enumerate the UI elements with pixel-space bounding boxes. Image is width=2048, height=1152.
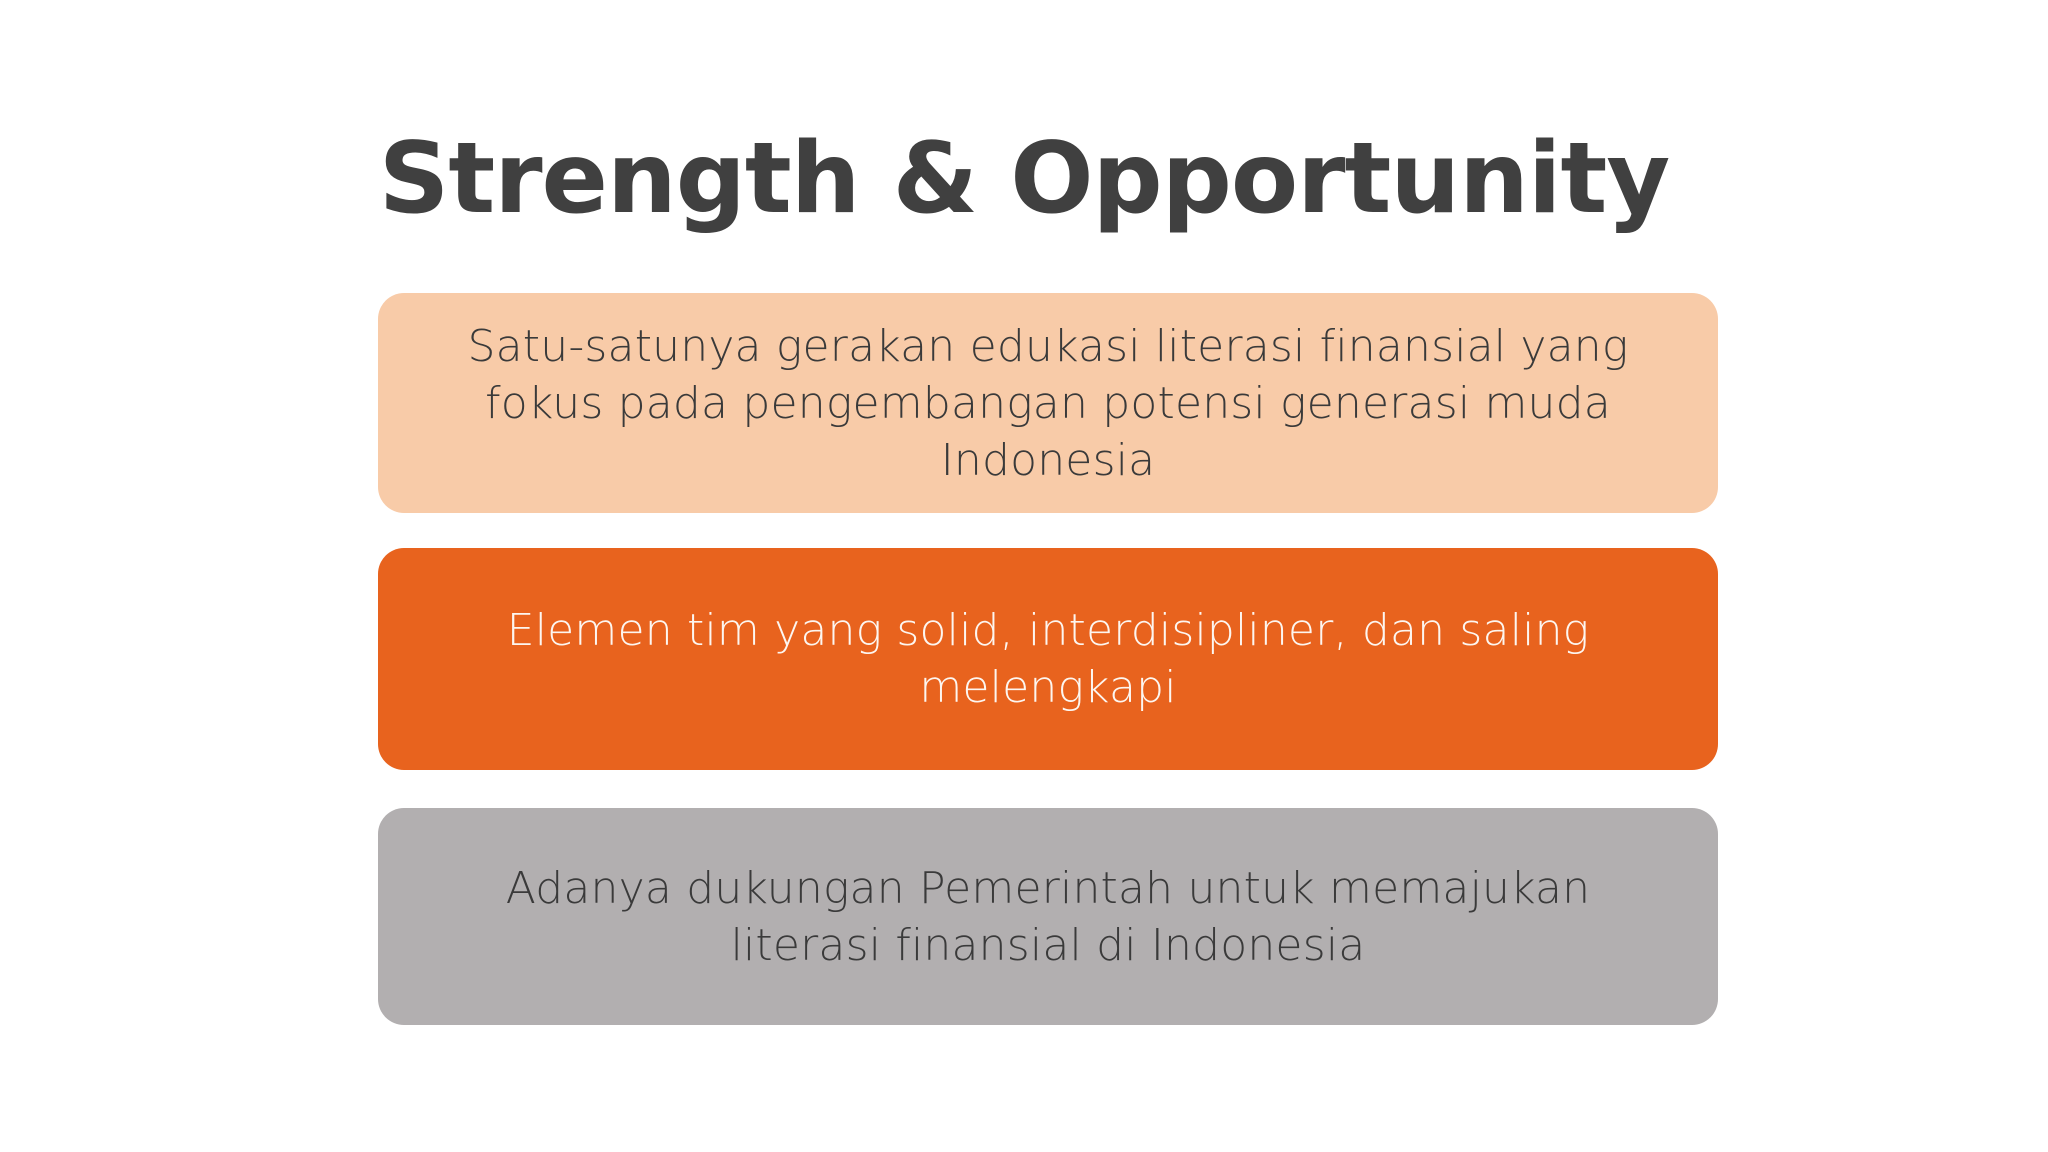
strength-opportunity-card-list: Satu-satunya gerakan edukasi literasi fi…: [378, 293, 1718, 1025]
card-strength-unique[interactable]: Satu-satunya gerakan edukasi literasi fi…: [378, 293, 1718, 513]
card-opportunity-government-label: Adanya dukungan Pemerintah untuk memajuk…: [424, 860, 1672, 974]
card-opportunity-government[interactable]: Adanya dukungan Pemerintah untuk memajuk…: [378, 808, 1718, 1025]
card-strength-team[interactable]: Elemen tim yang solid, interdisipliner, …: [378, 548, 1718, 770]
card-strength-unique-label: Satu-satunya gerakan edukasi literasi fi…: [424, 318, 1672, 489]
page-title: Strength & Opportunity: [0, 122, 2048, 238]
card-strength-team-label: Elemen tim yang solid, interdisipliner, …: [424, 602, 1672, 716]
slide-canvas: Strength & Opportunity Satu-satunya gera…: [0, 0, 2048, 1152]
